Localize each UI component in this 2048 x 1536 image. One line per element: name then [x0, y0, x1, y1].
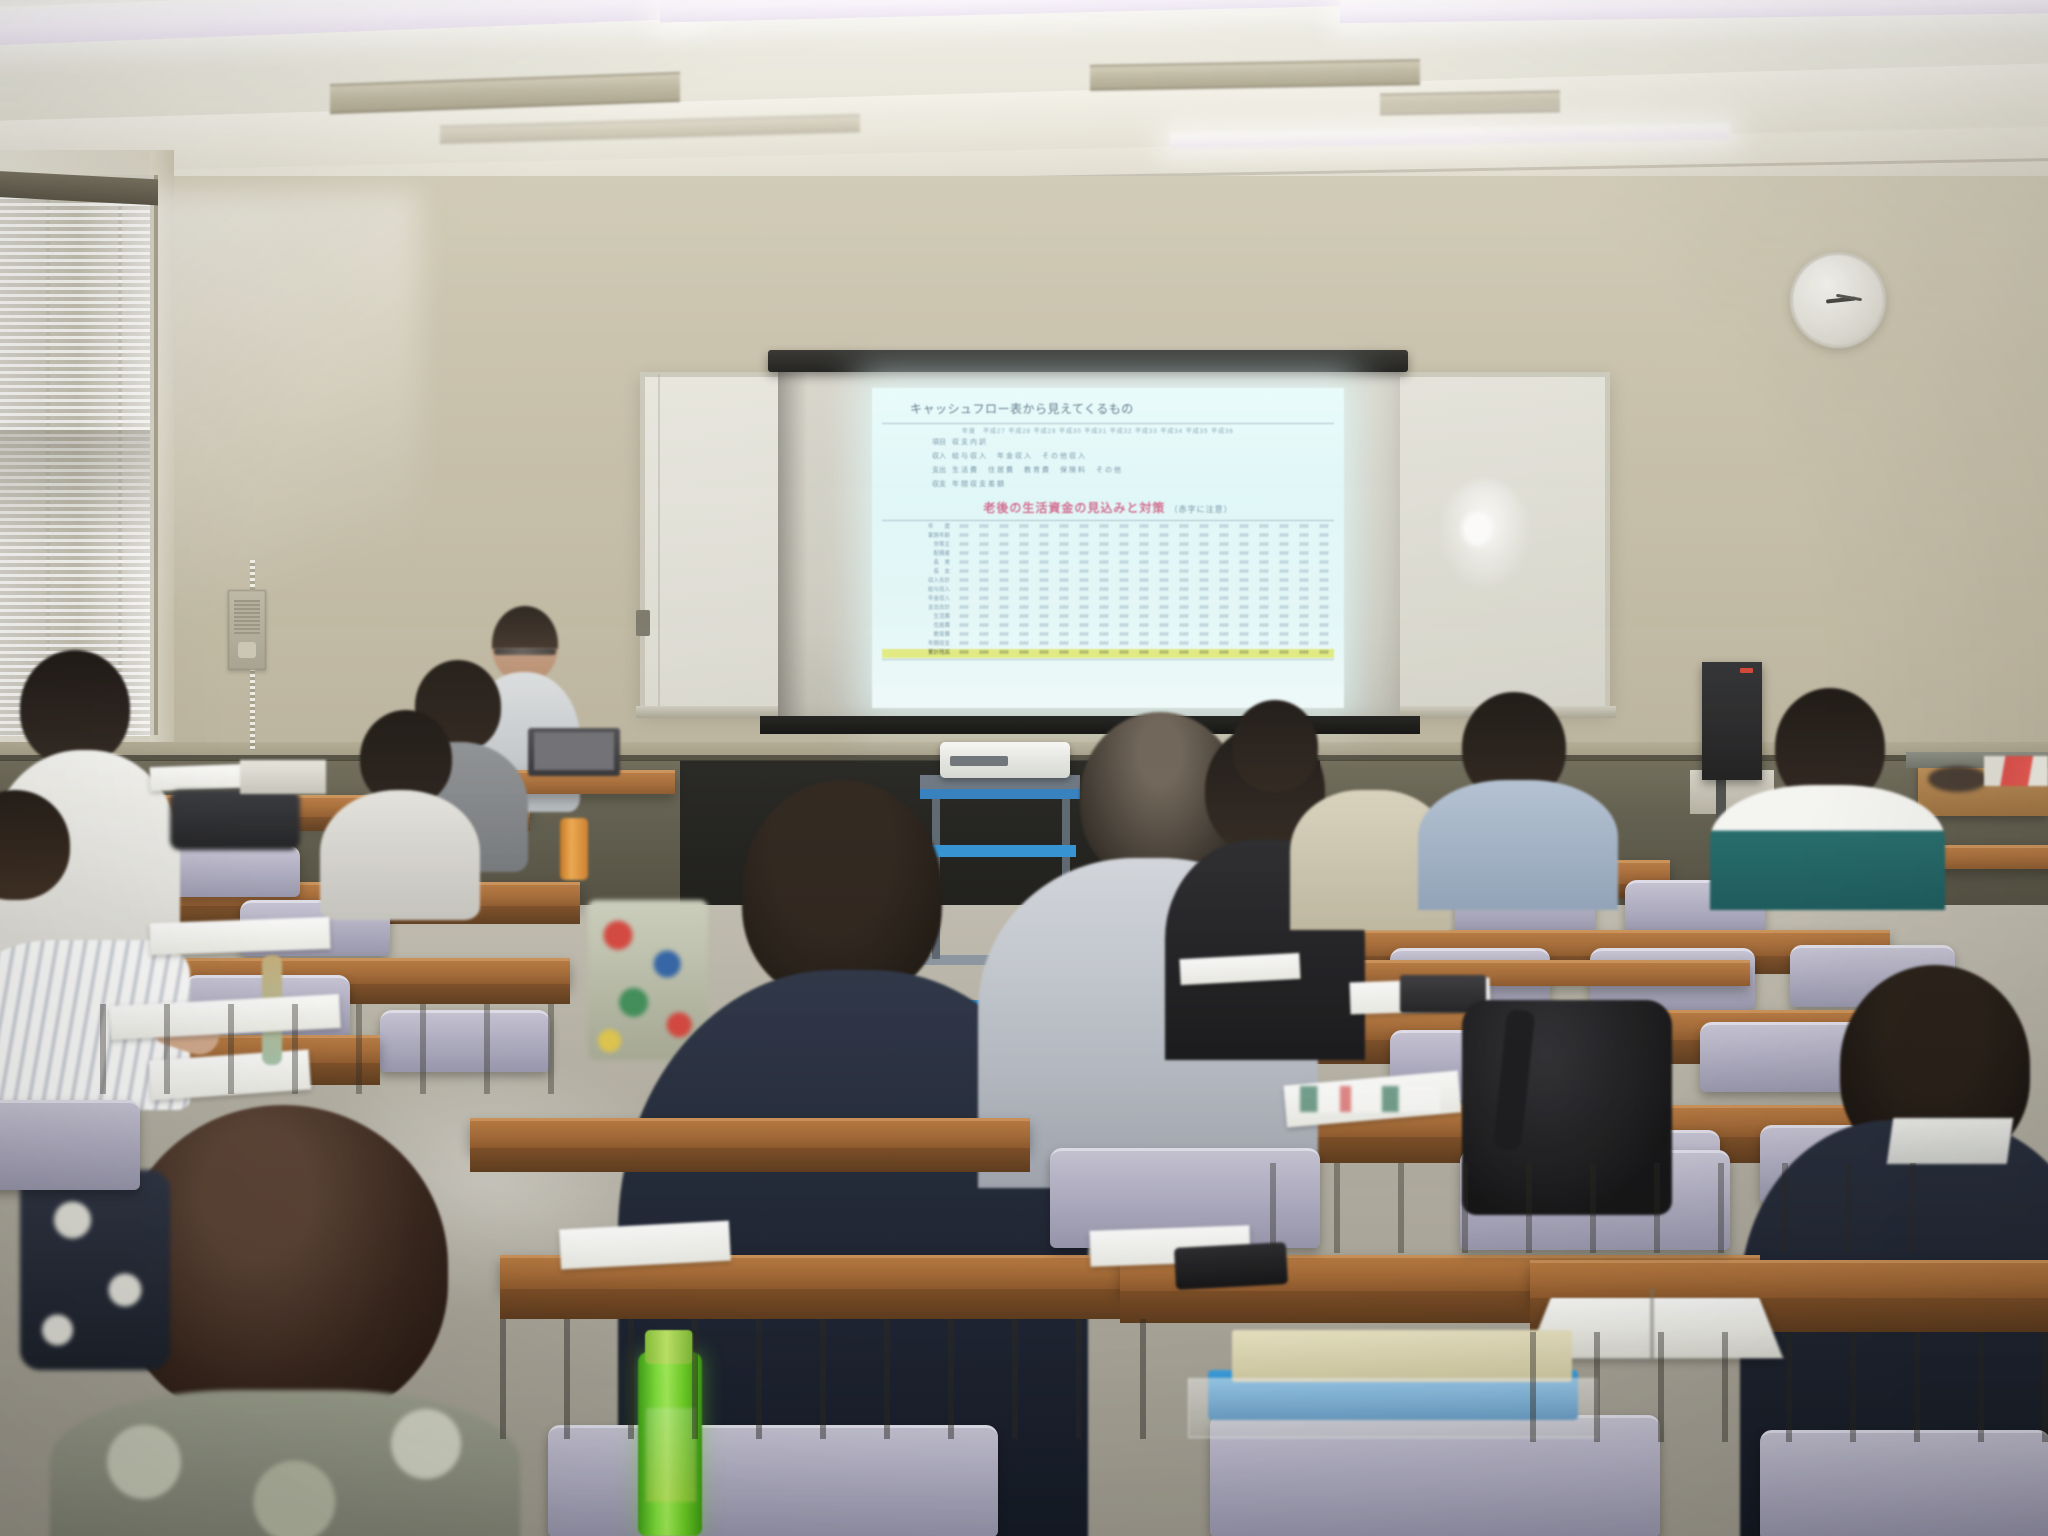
slide-table-cell: ### [1234, 532, 1254, 541]
chair[interactable] [1760, 1430, 2048, 1536]
slide-table-cell: ### [1214, 586, 1234, 595]
slide-table-cell: ### [1034, 586, 1054, 595]
slide-table-cell: ### [974, 586, 994, 595]
slide-table-cell: ### [1294, 559, 1314, 568]
slide-table-cell: ### [1074, 640, 1094, 649]
slide-table-cell: ### [1114, 604, 1134, 613]
slide-table-cells: ########################################… [954, 631, 1334, 640]
slide-table-row-label: 配偶者 [882, 550, 954, 559]
chair[interactable] [0, 1100, 140, 1190]
slide-table-cell: ### [1034, 541, 1054, 550]
slide-table-row: 累計残高####################################… [882, 649, 1334, 658]
slide-table-cell: ### [1314, 604, 1334, 613]
slide-table-cell: ### [994, 631, 1014, 640]
slide-table-cell: ### [1074, 631, 1094, 640]
slide-table-cell: ### [1174, 550, 1194, 559]
slide-table-cell: ### [1014, 595, 1034, 604]
slide-row-label: 収支 [882, 479, 946, 489]
slide-table-cell: ### [1134, 532, 1154, 541]
slide-table-cell: ### [1254, 595, 1274, 604]
slide-table-cells: ########################################… [954, 649, 1334, 658]
slide-table-cell: ### [1094, 586, 1114, 595]
slide-table-cell: ### [1234, 613, 1254, 622]
slide-table-cell: ### [1274, 622, 1294, 631]
slide-table-cell: ### [1234, 541, 1254, 550]
slide-table-cell: ### [1014, 640, 1034, 649]
slide-table-cell: ### [1194, 640, 1214, 649]
slide-table-cell: ### [1194, 541, 1214, 550]
slide-table-cell: ### [1214, 631, 1234, 640]
slide-table-cell: ### [1074, 550, 1094, 559]
slide-table-cell: ### [1234, 568, 1254, 577]
slide-table-cells: ########################################… [954, 559, 1334, 568]
slide-table-cell: ### [1214, 604, 1234, 613]
slide-upper-row: 項目 収支内訳 [882, 435, 1334, 449]
slide-table-cells: ########################################… [954, 523, 1334, 532]
slide-table-cell: ### [954, 550, 974, 559]
slide-table-row: 長 女#####################################… [882, 568, 1334, 577]
red-label-box [1984, 756, 2048, 786]
slide-table-cell: ### [1034, 613, 1054, 622]
slide-table-row-label: 生活費 [882, 613, 954, 622]
slide-table-cell: ### [1074, 577, 1094, 586]
slide-table-row-label: 年金収入 [882, 595, 954, 604]
projection-screen-weight-bar [760, 716, 1420, 734]
slide-table-cell: ### [974, 568, 994, 577]
slide-table-cell: ### [1134, 595, 1154, 604]
slide-table-cells: ########################################… [954, 568, 1334, 577]
slide-table-cell: ### [1174, 532, 1194, 541]
slide-table-cell: ### [1294, 640, 1314, 649]
handout-chart-graphic [1300, 1086, 1440, 1112]
slide-table-cell: ### [954, 559, 974, 568]
desk-legs [1530, 1332, 2048, 1442]
slide-table-cell: ### [1214, 550, 1234, 559]
slide-row-value: 給与収入 年金収入 その他収入 [952, 451, 1334, 461]
slide-highlight-text: 老後の生活資金の見込みと対策 （赤字に注意） [882, 499, 1334, 516]
slide-table-cells: ########################################… [954, 604, 1334, 613]
slide-table-row-label: 収入合計 [882, 577, 954, 586]
slide-table-cell: ### [954, 649, 974, 658]
slide-table-cell: ### [1194, 604, 1214, 613]
slide-divider [882, 520, 1334, 521]
slide-table-cell: ### [1294, 595, 1314, 604]
slide-table-cell: ### [994, 559, 1014, 568]
sunlight-streak [120, 190, 420, 750]
slide-table-cell: ### [1314, 622, 1334, 631]
slide-table-cell: ### [1154, 586, 1174, 595]
slide-table-cell: ### [1134, 586, 1154, 595]
slide-table-cell: ### [1314, 559, 1334, 568]
slide-table-cell: ### [1054, 550, 1074, 559]
slide-table-cell: ### [1054, 622, 1074, 631]
slide-table-cell: ### [1114, 541, 1134, 550]
slide-table-cell: ### [1194, 523, 1214, 532]
slide-table-cell: ### [1194, 649, 1214, 658]
slide-table-cell: ### [1314, 631, 1334, 640]
slide-table-cell: ### [1114, 613, 1134, 622]
slide-table-cell: ### [1174, 586, 1194, 595]
slide-data-table: 年 度#####################################… [882, 523, 1334, 658]
slide-table-cell: ### [1234, 604, 1254, 613]
slide-table-cell: ### [1154, 568, 1174, 577]
slide-table-cell: ### [1054, 523, 1074, 532]
slide-table-cell: ### [1114, 523, 1134, 532]
slide-table-cell: ### [994, 640, 1014, 649]
orange-drink-bottle[interactable] [560, 818, 588, 880]
slide-table-cell: ### [1234, 622, 1254, 631]
projected-slide: キャッシュフロー表から見えてくるもの 年度 平成27 平成28 平成29 平成3… [872, 388, 1344, 708]
slide-table-cell: ### [1054, 586, 1074, 595]
slide-table-cell: ### [1054, 613, 1074, 622]
slide-table-cells: ########################################… [954, 586, 1334, 595]
slide-table-cell: ### [1094, 613, 1114, 622]
slide-table-cell: ### [994, 550, 1014, 559]
slide-table-row: 長 男#####################################… [882, 559, 1334, 568]
slide-table-cell: ### [1234, 631, 1254, 640]
slide-table-cell: ### [1274, 577, 1294, 586]
slide-row-label: 項目 [882, 437, 946, 447]
slide-table-cell: ### [1314, 532, 1334, 541]
attendee-foreground-woman-body [50, 1390, 520, 1536]
attendee-white-teal-shirt [1710, 785, 1945, 910]
slide-upper-row: 収入 給与収入 年金収入 その他収入 [882, 449, 1334, 463]
slide-table-cells: ########################################… [954, 640, 1334, 649]
side-table-object [1928, 766, 1988, 792]
slide-table-cell: ### [974, 541, 994, 550]
slide-table-row-label: 住居費 [882, 622, 954, 631]
slide-table-cell: ### [1094, 541, 1114, 550]
slide-table-cell: ### [1034, 622, 1054, 631]
slide-table-cell: ### [1014, 604, 1034, 613]
slide-table-cell: ### [1234, 523, 1254, 532]
slide-table-cell: ### [1274, 586, 1294, 595]
slide-table-cell: ### [1074, 523, 1094, 532]
slide-table-cell: ### [1074, 604, 1094, 613]
slide-table-cell: ### [1314, 595, 1334, 604]
slide-table-cell: ### [1094, 622, 1114, 631]
slide-table-row: 住居費#####################################… [882, 622, 1334, 631]
slide-table-cell: ### [1014, 577, 1034, 586]
slide-table-cell: ### [1094, 532, 1114, 541]
slide-table-cell: ### [1274, 595, 1294, 604]
slide-table-cell: ### [1234, 559, 1254, 568]
slide-table-cell: ### [1294, 550, 1314, 559]
slide-table-cell: ### [1094, 577, 1114, 586]
slide-table-cell: ### [1154, 640, 1174, 649]
av-cart-blue-trim [920, 789, 1080, 799]
slide-row-value: 収支内訳 [952, 437, 1334, 447]
slide-table-cell: ### [954, 586, 974, 595]
slide-table-cell: ### [1154, 523, 1174, 532]
slide-table-cell: ### [994, 613, 1014, 622]
slide-table-cell: ### [1274, 649, 1294, 658]
slide-row-value: 生活費 住居費 教育費 保険料 その他 [952, 465, 1334, 475]
slide-table-cell: ### [1274, 532, 1294, 541]
slide-table-cell: ### [1174, 568, 1194, 577]
slide-table-cell: ### [994, 568, 1014, 577]
slide-table-cell: ### [1014, 622, 1034, 631]
slide-table-cell: ### [1194, 622, 1214, 631]
air-vent-icon [1380, 90, 1560, 115]
slide-table-cell: ### [1254, 550, 1274, 559]
slide-table-cell: ### [1254, 559, 1274, 568]
slide-table-cell: ### [1034, 550, 1054, 559]
slide-table-cell: ### [1294, 622, 1314, 631]
slide-table-cell: ### [1194, 559, 1214, 568]
slide-table-cell: ### [1254, 523, 1274, 532]
slide-table-cell: ### [1214, 568, 1234, 577]
desk-legs [1270, 1163, 1950, 1253]
slide-table-cell: ### [954, 568, 974, 577]
slide-table-cell: ### [954, 595, 974, 604]
speaker-led-icon [1740, 668, 1753, 673]
slide-table-cell: ### [1234, 649, 1254, 658]
slide-table-cell: ### [1254, 604, 1274, 613]
slide-table-cell: ### [954, 577, 974, 586]
attendee-head [742, 780, 942, 1000]
slide-table-cell: ### [1074, 532, 1094, 541]
slide-table-cell: ### [1254, 640, 1274, 649]
slide-table-cell: ### [1174, 631, 1194, 640]
slide-table-cell: ### [1214, 523, 1234, 532]
slide-table-cell: ### [1174, 622, 1194, 631]
desk-legs [100, 1004, 570, 1094]
slide-table-cell: ### [1274, 613, 1294, 622]
slide-table-cell: ### [1014, 550, 1034, 559]
slide-table-cell: ### [1274, 640, 1294, 649]
slide-table-cell: ### [1314, 550, 1334, 559]
slide-table-cell: ### [1234, 595, 1254, 604]
slide-table-cell: ### [1154, 577, 1174, 586]
slide-table-cells: ########################################… [954, 595, 1334, 604]
slide-table-row-label: 累計残高 [882, 649, 954, 658]
slide-table-cell: ### [1154, 631, 1174, 640]
slide-table-cell: ### [1234, 640, 1254, 649]
slide-table-cell: ### [1154, 604, 1174, 613]
slide-table-cell: ### [994, 649, 1014, 658]
slide-table-cell: ### [1114, 532, 1134, 541]
white-box [240, 760, 326, 794]
slide-table-cell: ### [1314, 577, 1334, 586]
slide-table-cell: ### [1294, 604, 1314, 613]
slide-table-cell: ### [1174, 613, 1194, 622]
slide-table-cell: ### [1254, 586, 1274, 595]
projection-screen-shadow [778, 370, 808, 722]
slide-table-cell: ### [974, 640, 994, 649]
document-folder[interactable] [1232, 1330, 1572, 1382]
slide-table-row-label: 世帯主 [882, 541, 954, 550]
slide-table-cell: ### [1094, 604, 1114, 613]
slide-table-cell: ### [1094, 649, 1114, 658]
attendee-body [320, 790, 480, 920]
slide-table-cell: ### [1174, 649, 1194, 658]
projection-screen-case [768, 350, 1408, 372]
slide-title: キャッシュフロー表から見えてくるもの [882, 394, 1334, 421]
slide-table-cell: ### [994, 532, 1014, 541]
slide-upper-row: 収支 年間収支差額 [882, 477, 1334, 491]
slide-table-cell: ### [1314, 523, 1334, 532]
slide-table-cell: ### [1174, 640, 1194, 649]
attendee-blue-shirt [1418, 780, 1618, 910]
slide-table-row: 支出合計####################################… [882, 604, 1334, 613]
slide-table-cell: ### [994, 604, 1014, 613]
slide-highlight-main: 老後の生活資金の見込みと対策 [983, 501, 1165, 515]
slide-table-cell: ### [1194, 550, 1214, 559]
slide-table-cell: ### [1054, 631, 1074, 640]
slide-table-cell: ### [1274, 523, 1294, 532]
slide-table-cells: ########################################… [954, 622, 1334, 631]
whiteboard-panel-seam [658, 374, 660, 710]
intercom-button[interactable] [238, 642, 256, 658]
slide-table-cell: ### [1154, 532, 1174, 541]
slide-table-cell: ### [974, 604, 994, 613]
slide-table-cell: ### [1234, 577, 1254, 586]
slide-table-cell: ### [974, 523, 994, 532]
slide-table-cell: ### [1074, 649, 1094, 658]
slide-table-cell: ### [1214, 613, 1234, 622]
slide-table-cell: ### [1194, 577, 1214, 586]
slide-table-cell: ### [1054, 541, 1074, 550]
slide-table-cell: ### [954, 640, 974, 649]
slide-table-cell: ### [974, 550, 994, 559]
slide-table-cell: ### [1114, 577, 1134, 586]
slide-table-cell: ### [1294, 631, 1314, 640]
slide-table-cell: ### [1134, 523, 1154, 532]
slide-table-cell: ### [1054, 649, 1074, 658]
slide-table-cell: ### [994, 595, 1014, 604]
slide-table-cell: ### [1194, 631, 1214, 640]
slide-table-row: 世帯主#####################################… [882, 541, 1334, 550]
slide-table-cell: ### [1074, 613, 1094, 622]
slide-table-cell: ### [1114, 568, 1134, 577]
slide-table-cell: ### [1154, 595, 1174, 604]
slide-table-cell: ### [1074, 622, 1094, 631]
slide-table-cell: ### [1314, 613, 1334, 622]
slide-table-cell: ### [1314, 541, 1334, 550]
slide-table-cell: ### [1194, 568, 1214, 577]
slide-table-cell: ### [974, 532, 994, 541]
slide-table-cell: ### [954, 523, 974, 532]
slide-table-cell: ### [974, 595, 994, 604]
slide-table-cell: ### [1214, 541, 1234, 550]
slide-table-cell: ### [1094, 559, 1114, 568]
slide-table-cell: ### [1114, 640, 1134, 649]
slide-table-cell: ### [1034, 604, 1054, 613]
slide-table-cell: ### [1294, 523, 1314, 532]
slide-table-cell: ### [1154, 622, 1174, 631]
slide-table-cell: ### [1134, 604, 1154, 613]
slide-table-cell: ### [1034, 640, 1054, 649]
slide-table-cell: ### [954, 541, 974, 550]
slide-row-value: 年間収支差額 [952, 479, 1334, 489]
slide-table-cell: ### [1054, 640, 1074, 649]
laptop-screen [534, 732, 614, 770]
slide-table-cell: ### [1254, 622, 1274, 631]
slide-table-cell: ### [1014, 568, 1034, 577]
slide-table-cell: ### [1134, 631, 1154, 640]
slide-upper-row: 支出 生活費 住居費 教育費 保険料 その他 [882, 463, 1334, 477]
slide-table-row-label: 支出合計 [882, 604, 954, 613]
slide-table-row-label: 教育費 [882, 631, 954, 640]
slide-table-cell: ### [1174, 559, 1194, 568]
slide-table-cell: ### [1254, 649, 1274, 658]
slide-table-cell: ### [1054, 595, 1074, 604]
slide-table-cell: ### [1134, 622, 1154, 631]
slide-table-cell: ### [954, 622, 974, 631]
desk-legs [500, 1319, 1180, 1439]
slide-table-cell: ### [974, 559, 994, 568]
slide-table-cell: ### [1314, 649, 1334, 658]
slide-table-cell: ### [1014, 541, 1034, 550]
slide-table-cell: ### [1014, 523, 1034, 532]
slide-table-cell: ### [1134, 559, 1154, 568]
slide-table-cell: ### [1314, 568, 1334, 577]
slide-table-cell: ### [1294, 577, 1314, 586]
slide-table-row: 年金収入####################################… [882, 595, 1334, 604]
slide-table-cell: ### [1174, 541, 1194, 550]
slide-table-cell: ### [1094, 631, 1114, 640]
slide-year-header-row: 年度 平成27 平成28 平成29 平成30 平成31 平成32 平成33 平成… [882, 426, 1334, 435]
slide-table-cell: ### [1114, 559, 1134, 568]
slide-table-cell: ### [1154, 613, 1174, 622]
photo-scene: キャッシュフロー表から見えてくるもの 年度 平成27 平成28 平成29 平成3… [0, 0, 2048, 1536]
slide-table-cell: ### [1094, 640, 1114, 649]
slide-table-cell: ### [1114, 550, 1134, 559]
dark-bag[interactable] [170, 790, 300, 850]
shirt-collar [1887, 1118, 2013, 1164]
slide-table-cell: ### [1214, 622, 1234, 631]
slide-table-cell: ### [994, 541, 1014, 550]
slide-table-cell: ### [974, 622, 994, 631]
slide-table-cell: ### [1294, 649, 1314, 658]
slide-table-cell: ### [1134, 577, 1154, 586]
slide-table-cell: ### [1174, 604, 1194, 613]
slide-table-row-label: 年間収支 [882, 640, 954, 649]
slide-table-row: 教育費#####################################… [882, 631, 1334, 640]
slide-table-row: 家族年齢####################################… [882, 532, 1334, 541]
slide-table-cell: ### [1094, 523, 1114, 532]
chair[interactable] [548, 1425, 998, 1536]
slide-table-cell: ### [1214, 559, 1234, 568]
slide-table-cell: ### [954, 532, 974, 541]
speaker-tower [1702, 662, 1762, 780]
slide-table-cell: ### [974, 577, 994, 586]
slide-table-cell: ### [1114, 649, 1134, 658]
slide-table-cells: ########################################… [954, 577, 1334, 586]
slide-table-cell: ### [974, 649, 994, 658]
slide-table-cell: ### [1254, 613, 1274, 622]
slide-table-cell: ### [1094, 568, 1114, 577]
slide-table-cell: ### [1194, 595, 1214, 604]
slide-table-row-label: 家族年齢 [882, 532, 954, 541]
slide-table-row-label: 長 男 [882, 559, 954, 568]
slide-table-cell: ### [954, 604, 974, 613]
slide-table-cell: ### [1154, 559, 1174, 568]
slide-table-cell: ### [1054, 604, 1074, 613]
floral-pattern-sleeve [20, 1170, 170, 1370]
slide-table-row-label: 年 度 [882, 523, 954, 532]
slide-table-cell: ### [1274, 631, 1294, 640]
slide-table-cell: ### [1274, 550, 1294, 559]
desk [470, 1118, 1030, 1150]
slide-table-cells: ########################################… [954, 550, 1334, 559]
slide-table-cell: ### [1074, 586, 1094, 595]
slide-table-cell: ### [1134, 640, 1154, 649]
desk-front [470, 1148, 1030, 1172]
slide-table-cell: ### [1014, 532, 1034, 541]
slide-table-row: 年 度#####################################… [882, 523, 1334, 532]
